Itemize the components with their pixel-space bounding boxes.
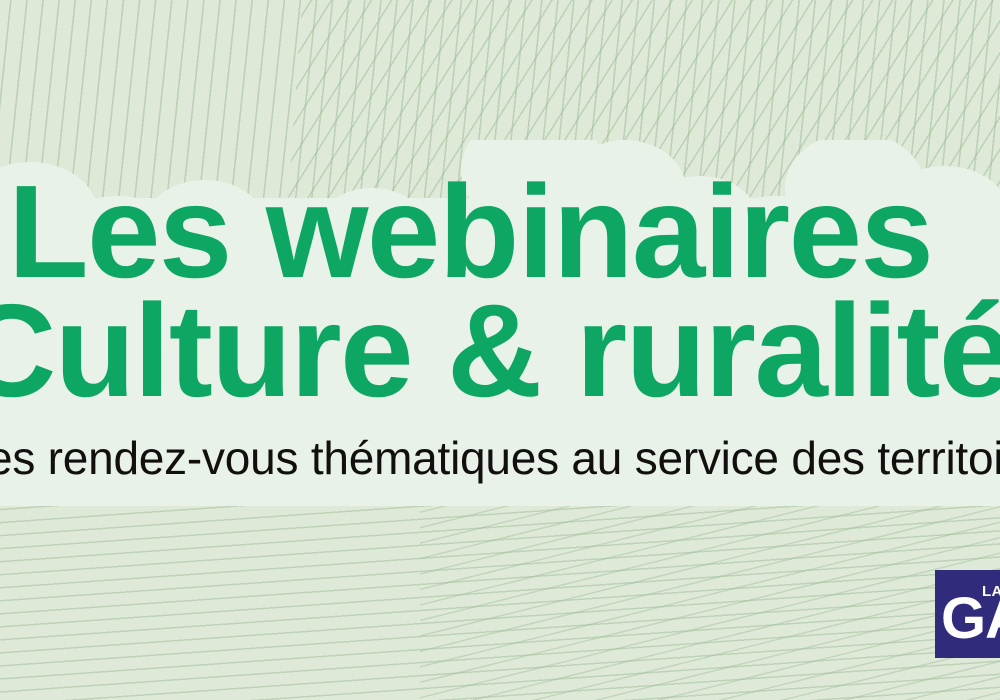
- cloud-band-shape: [0, 140, 1000, 506]
- publisher-logo[interactable]: LA GA: [935, 570, 1000, 658]
- stripe-pattern-bottom-right: [420, 496, 1000, 700]
- logo-big-text: GA: [941, 590, 1000, 648]
- promotional-banner: Les webinaires Culture & ruralité Des re…: [0, 0, 1000, 700]
